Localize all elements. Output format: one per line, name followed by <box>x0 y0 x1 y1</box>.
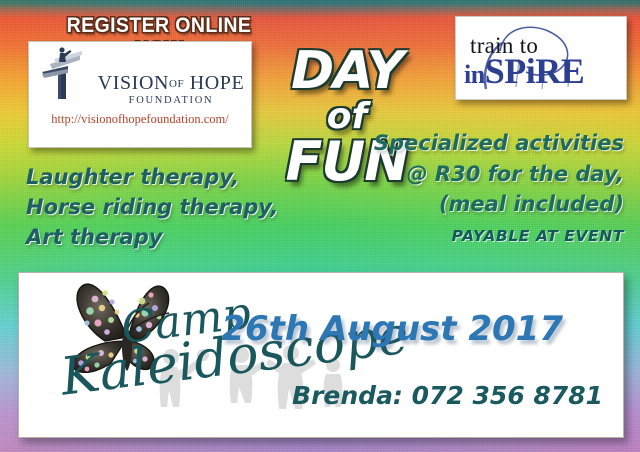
train-to-text: train to <box>470 33 538 59</box>
vision-of-hope-card: VISIONOF HOPE FOUNDATION http://visionof… <box>28 41 252 148</box>
therapies-list: Laughter therapy, Horse riding therapy, … <box>26 163 266 252</box>
contact-phone: Brenda: 072 356 8781 <box>292 381 603 410</box>
pricing-line: Specialized activities <box>354 128 624 159</box>
vision-of-hope-logo: VISIONOF HOPE FOUNDATION <box>36 51 245 106</box>
lighthouse-icon <box>36 46 96 106</box>
payable-at-event-note: PAYABLE AT EVENT <box>354 227 624 245</box>
train-to-inspire-card: train to inSPiRE <box>455 16 627 100</box>
promotional-flyer: REGISTER ONLINE NOW <box>0 0 640 452</box>
voh-foundation-text: FOUNDATION <box>98 96 245 107</box>
therapy-item: Horse riding therapy, <box>26 193 266 223</box>
title-line-day: DAY <box>272 46 422 97</box>
pricing-line: @ R30 for the day, <box>354 159 624 190</box>
pricing-line: (meal included) <box>354 189 624 220</box>
voh-vision-text: VISION <box>98 72 169 94</box>
voh-hope-text: HOPE <box>190 72 245 94</box>
event-date: 26th August 2017 <box>221 309 563 349</box>
vision-of-hope-url[interactable]: http://visionofhopefoundation.com/ <box>51 112 228 127</box>
therapy-item: Laughter therapy, <box>26 163 266 193</box>
vision-of-hope-wordmark: VISIONOF HOPE FOUNDATION <box>98 73 245 107</box>
pricing-block: Specialized activities @ R30 for the day… <box>354 128 624 245</box>
voh-of-text: OF <box>169 78 184 90</box>
inspire-in-text: in <box>464 60 485 89</box>
therapy-item: Art therapy <box>26 223 266 253</box>
camp-kaleidoscope-panel: Camp Kaleidoscope 26th August 2017 Brend… <box>18 272 624 438</box>
